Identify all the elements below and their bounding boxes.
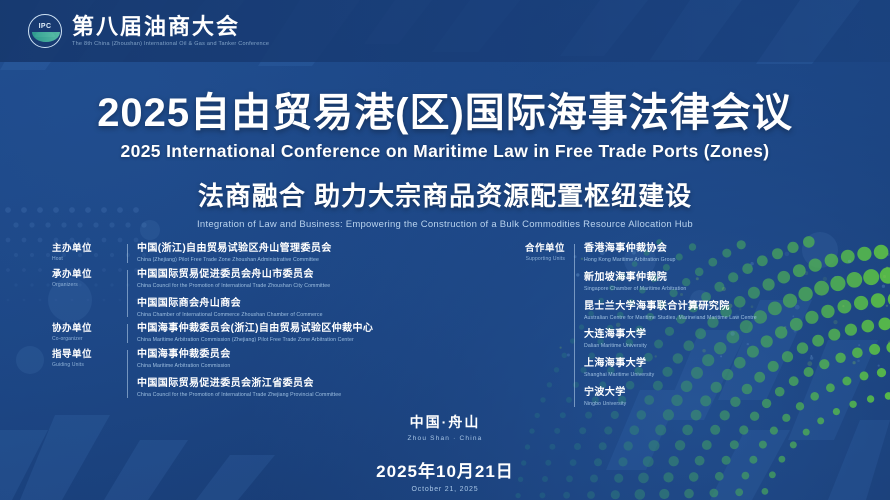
credits-column-left: 主办单位Host中国(浙江)自由贸易试验区舟山管理委员会China (Zheji… bbox=[52, 243, 452, 404]
credit-item: 新加坡海事仲裁院Singapore Chamber of Maritime Ar… bbox=[584, 272, 882, 293]
credit-label-en: Guiding Units bbox=[52, 362, 118, 368]
credit-item: 中国海事仲裁委员会(浙江)自由贸易试验区仲裁中心China Maritime A… bbox=[137, 323, 452, 344]
credit-divider bbox=[127, 270, 128, 318]
conference-poster: IPC 第八届油商大会 The 8th China (Zhoushan) Int… bbox=[0, 0, 890, 500]
title-block: 2025自由贸易港(区)国际海事法律会议 2025 International … bbox=[0, 92, 890, 230]
credit-item-en: China Maritime Arbitration Commission bbox=[137, 363, 452, 370]
credit-item-cn: 中国国际贸易促进委员会浙江省委员会 bbox=[137, 378, 452, 391]
credit-group: 承办单位Organizers中国国际贸易促进委员会舟山市委员会China Cou… bbox=[52, 269, 452, 319]
credit-item: 上海海事大学Shanghai Maritime University bbox=[584, 358, 882, 379]
credits-column-right: 合作单位Supporting Units香港海事仲裁协会Hong Kong Ma… bbox=[487, 243, 882, 413]
credit-label-cn: 合作单位 bbox=[487, 244, 565, 255]
footer-block: 中国·舟山 Zhou Shan · China 2025年10月21日 Octo… bbox=[0, 412, 890, 493]
credit-item: 中国国际商会舟山商会China Chamber of International… bbox=[137, 298, 452, 319]
credit-item-cn: 中国海事仲裁委员会(浙江)自由贸易试验区仲裁中心 bbox=[137, 323, 452, 336]
credit-item-en: China Council for the Promotion of Inter… bbox=[137, 392, 452, 399]
date-cn: 2025年10月21日 bbox=[0, 457, 890, 482]
credit-item: 中国国际贸易促进委员会浙江省委员会China Council for the P… bbox=[137, 378, 452, 399]
credit-item-en: China Chamber of International Commerce … bbox=[137, 312, 452, 319]
credit-item-en: Australian Centre for Maritime Studies, … bbox=[584, 315, 882, 322]
credit-items: 中国国际贸易促进委员会舟山市委员会China Council for the P… bbox=[137, 269, 452, 319]
credit-item-cn: 宁波大学 bbox=[584, 387, 882, 400]
credit-item-cn: 中国国际贸易促进委员会舟山市委员会 bbox=[137, 269, 452, 282]
credit-item-cn: 香港海事仲裁协会 bbox=[584, 243, 882, 256]
credit-item: 宁波大学Ningbo University bbox=[584, 387, 882, 408]
credit-label-cn: 指导单位 bbox=[52, 350, 118, 361]
credit-label-en: Host bbox=[52, 256, 118, 262]
credit-label: 指导单位Guiding Units bbox=[52, 349, 118, 399]
credit-item-en: China Council for the Promotion of Inter… bbox=[137, 283, 452, 290]
credit-item-en: China (Zhejiang) Pilot Free Trade Zone Z… bbox=[137, 257, 452, 264]
credit-items: 中国海事仲裁委员会China Maritime Arbitration Comm… bbox=[137, 349, 452, 399]
main-title-cn: 2025自由贸易港(区)国际海事法律会议 bbox=[0, 92, 890, 135]
credit-item: 中国(浙江)自由贸易试验区舟山管理委员会China (Zhejiang) Pil… bbox=[137, 243, 452, 264]
credit-item-cn: 上海海事大学 bbox=[584, 358, 882, 371]
header-logo-text: 第八届油商大会 The 8th China (Zhoushan) Interna… bbox=[72, 15, 269, 47]
credit-item: 香港海事仲裁协会Hong Kong Maritime Arbitration G… bbox=[584, 243, 882, 264]
credit-item-cn: 昆士兰大学海事联合计算研究院 bbox=[584, 301, 882, 314]
credit-divider bbox=[127, 350, 128, 398]
credit-item-en: Singapore Chamber of Maritime Arbitratio… bbox=[584, 286, 882, 293]
credit-label: 合作单位Supporting Units bbox=[487, 243, 565, 408]
credit-item: 中国国际贸易促进委员会舟山市委员会China Council for the P… bbox=[137, 269, 452, 290]
credit-label-en: Co-organizer bbox=[52, 336, 118, 342]
credit-item-en: Shanghai Maritime University bbox=[584, 372, 882, 379]
subtitle-cn: 法商融合 助力大宗商品资源配置枢纽建设 bbox=[0, 176, 890, 213]
credit-label: 主办单位Host bbox=[52, 243, 118, 264]
credit-item-cn: 中国国际商会舟山商会 bbox=[137, 298, 452, 311]
credit-group: 主办单位Host中国(浙江)自由贸易试验区舟山管理委员会China (Zheji… bbox=[52, 243, 452, 264]
credit-item: 中国海事仲裁委员会China Maritime Arbitration Comm… bbox=[137, 349, 452, 370]
credit-group: 协办单位Co-organizer中国海事仲裁委员会(浙江)自由贸易试验区仲裁中心… bbox=[52, 323, 452, 344]
credit-divider bbox=[127, 244, 128, 263]
credit-item-en: Ningbo University bbox=[584, 401, 882, 408]
credit-items: 中国(浙江)自由贸易试验区舟山管理委员会China (Zhejiang) Pil… bbox=[137, 243, 452, 264]
location-cn: 中国·舟山 bbox=[0, 412, 890, 432]
header-logo-title-cn: 第八届油商大会 bbox=[72, 15, 269, 39]
credit-label-cn: 承办单位 bbox=[52, 270, 118, 281]
credit-items: 香港海事仲裁协会Hong Kong Maritime Arbitration G… bbox=[584, 243, 882, 408]
credit-item: 昆士兰大学海事联合计算研究院Australian Centre for Mari… bbox=[584, 301, 882, 322]
credit-item-cn: 大连海事大学 bbox=[584, 329, 882, 342]
location-en: Zhou Shan · China bbox=[0, 435, 890, 442]
credit-label-en: Organizers bbox=[52, 282, 118, 288]
credit-item-cn: 新加坡海事仲裁院 bbox=[584, 272, 882, 285]
credit-item-en: Dalian Maritime University bbox=[584, 343, 882, 350]
credits-section: 主办单位Host中国(浙江)自由贸易试验区舟山管理委员会China (Zheji… bbox=[0, 243, 890, 403]
header-bar: IPC 第八届油商大会 The 8th China (Zhoushan) Int… bbox=[0, 0, 890, 62]
credit-item-cn: 中国海事仲裁委员会 bbox=[137, 349, 452, 362]
credit-label: 协办单位Co-organizer bbox=[52, 323, 118, 344]
subtitle-en: Integration of Law and Business: Empower… bbox=[0, 219, 890, 230]
credit-divider bbox=[127, 324, 128, 343]
credit-item-en: China Maritime Arbitration Commission (Z… bbox=[137, 337, 452, 344]
main-title-en: 2025 International Conference on Maritim… bbox=[0, 141, 890, 162]
credit-item-cn: 中国(浙江)自由贸易试验区舟山管理委员会 bbox=[137, 243, 452, 256]
credit-items: 中国海事仲裁委员会(浙江)自由贸易试验区仲裁中心China Maritime A… bbox=[137, 323, 452, 344]
credit-label-cn: 主办单位 bbox=[52, 244, 118, 255]
credit-label-cn: 协办单位 bbox=[52, 324, 118, 335]
header-logo-title-en: The 8th China (Zhoushan) International O… bbox=[72, 41, 269, 47]
credit-group: 指导单位Guiding Units中国海事仲裁委员会China Maritime… bbox=[52, 349, 452, 399]
credit-item: 大连海事大学Dalian Maritime University bbox=[584, 329, 882, 350]
credit-label: 承办单位Organizers bbox=[52, 269, 118, 319]
credit-label-en: Supporting Units bbox=[487, 256, 565, 262]
credit-divider bbox=[574, 244, 575, 407]
credit-group: 合作单位Supporting Units香港海事仲裁协会Hong Kong Ma… bbox=[487, 243, 882, 408]
ipc-wave-roundel-icon: IPC bbox=[28, 14, 62, 48]
date-en: October 21, 2025 bbox=[0, 486, 890, 493]
credit-item-en: Hong Kong Maritime Arbitration Group bbox=[584, 257, 882, 264]
